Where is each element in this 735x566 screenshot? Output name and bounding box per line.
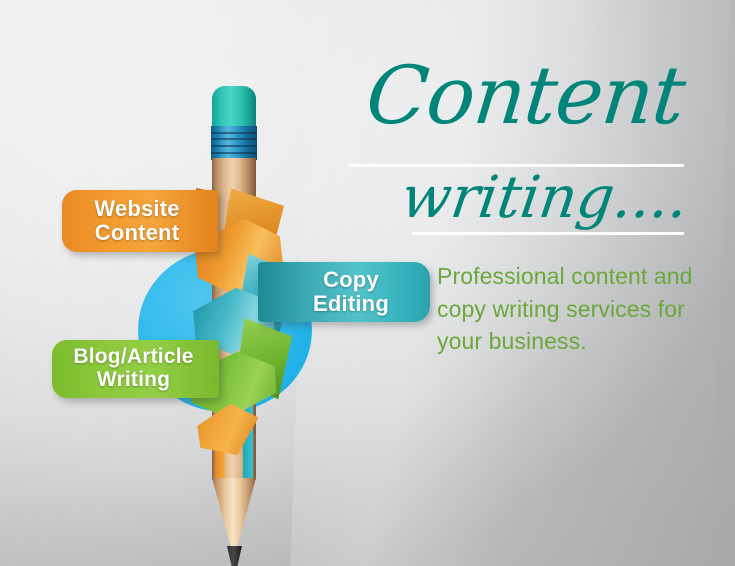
banner-line-2: Content [94, 221, 179, 245]
banner-line-1: Blog/Article [73, 345, 193, 368]
ferrule-ring [211, 152, 257, 154]
banner-line-1: Website [94, 196, 179, 221]
ferrule-ring [211, 145, 257, 147]
banner-copy-editing-text: Copy Editing [313, 268, 389, 316]
banner-line-2: Writing [73, 369, 193, 392]
banner-website-content-text: Website Content [94, 197, 179, 245]
banner-blog-article-writing-text: Blog/Article Writing [73, 346, 193, 391]
headline-line-1: Content [340, 58, 732, 135]
headline-block: Content [344, 58, 728, 135]
ferrule-ring [211, 138, 257, 140]
headline-underline-2 [412, 232, 684, 235]
banner-line-1: Copy [323, 267, 379, 292]
body-copy-text: Professional content and copy writing se… [437, 260, 717, 358]
banner-blog-article-writing[interactable]: Blog/Article Writing [52, 340, 219, 398]
ferrule-ring [211, 132, 257, 134]
banner-website-content[interactable]: Website Content [62, 190, 218, 252]
content-writing-poster: Content Writing Website Content Copy Edi… [0, 0, 735, 566]
pencil-ferrule [211, 126, 257, 160]
headline-line-2: writing.... [340, 168, 692, 226]
banner-line-2: Editing [313, 292, 389, 316]
banner-copy-editing[interactable]: Copy Editing [258, 262, 430, 322]
